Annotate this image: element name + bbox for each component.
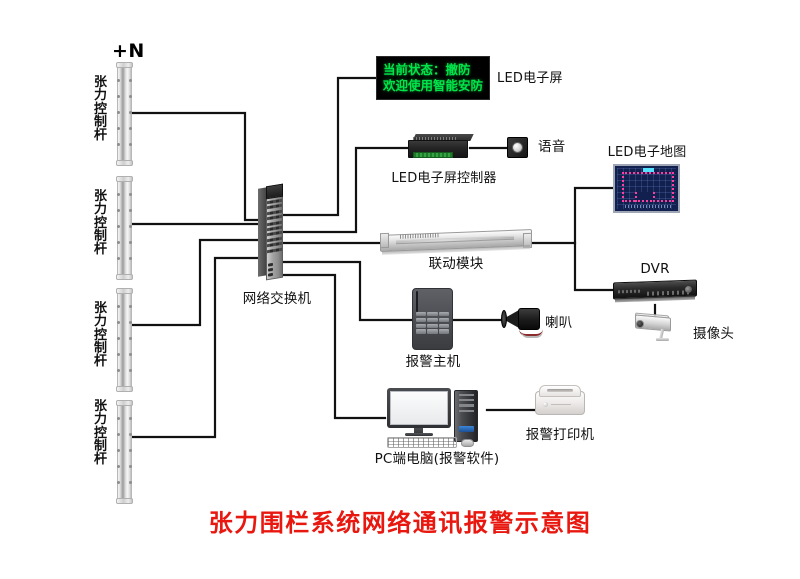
- tension-pole-2-label: 张 力 控 制 杆: [93, 190, 108, 256]
- led-display-screen[interactable]: 当前状态：撤防 欢迎使用智能安防: [376, 56, 490, 100]
- tension-pole-1-label: 张 力 控 制 杆: [93, 76, 108, 142]
- led-screen-line-2: 欢迎使用智能安防: [383, 78, 484, 93]
- wire-switch-ledscreen: [283, 78, 376, 215]
- wire-pole1-switch: [130, 113, 258, 220]
- tension-pole-4[interactable]: [117, 400, 132, 504]
- led-screen-line-1: 当前状态：撤防: [383, 62, 484, 77]
- led-electronic-map[interactable]: [613, 164, 680, 213]
- wire-linkage-dvr: [575, 243, 613, 290]
- dvr-device[interactable]: [613, 281, 697, 303]
- network-switch-label: 网络交换机: [243, 292, 312, 308]
- phase-label-plus-n: +N: [112, 40, 145, 62]
- alarm-host-label: 报警主机: [406, 355, 461, 371]
- linkage-module-label: 联动模块: [429, 257, 484, 273]
- linkage-module[interactable]: [380, 232, 532, 254]
- pc-workstation[interactable]: [387, 388, 487, 450]
- alarm-host-panel[interactable]: [412, 288, 453, 350]
- alarm-printer[interactable]: [535, 385, 585, 418]
- led-map-label: LED电子地图: [608, 146, 687, 161]
- tension-pole-3-label: 张 力 控 制 杆: [93, 302, 108, 368]
- pc-mouse: [461, 439, 474, 447]
- diagram-canvas: +N 张 力 控 制 杆 张 力 控 制 杆: [0, 0, 800, 579]
- pc-monitor: [387, 388, 451, 428]
- network-switch[interactable]: [258, 185, 284, 279]
- tension-pole-4-label: 张 力 控 制 杆: [93, 400, 108, 466]
- tension-pole-3[interactable]: [117, 288, 132, 392]
- wire-switch-ledcontroller: [283, 148, 408, 232]
- voice-label: 语音: [538, 140, 565, 156]
- tension-pole-1[interactable]: [117, 62, 132, 166]
- led-display-screen-label: LED电子屏: [497, 72, 563, 87]
- tension-pole-2[interactable]: [117, 176, 132, 280]
- led-screen-controller[interactable]: [408, 134, 474, 160]
- alarm-printer-label: 报警打印机: [526, 428, 595, 444]
- camera-label: 摄像头: [693, 327, 734, 343]
- wire-pole3-switch: [130, 240, 258, 325]
- horn-label: 喇叭: [545, 316, 572, 332]
- dvr-label: DVR: [640, 262, 669, 278]
- wire-pole4-switch: [130, 258, 258, 437]
- pc-tower: [454, 390, 478, 442]
- diagram-title: 张力围栏系统网络通讯报警示意图: [209, 503, 592, 538]
- voice-speaker-icon[interactable]: [507, 137, 528, 158]
- led-screen-controller-label: LED电子屏控制器: [391, 172, 496, 187]
- cctv-camera[interactable]: [633, 314, 683, 344]
- pc-label: PC端电脑(报警软件): [375, 452, 500, 468]
- wire-linkage-ledmap: [532, 188, 613, 243]
- pc-keyboard: [387, 437, 457, 448]
